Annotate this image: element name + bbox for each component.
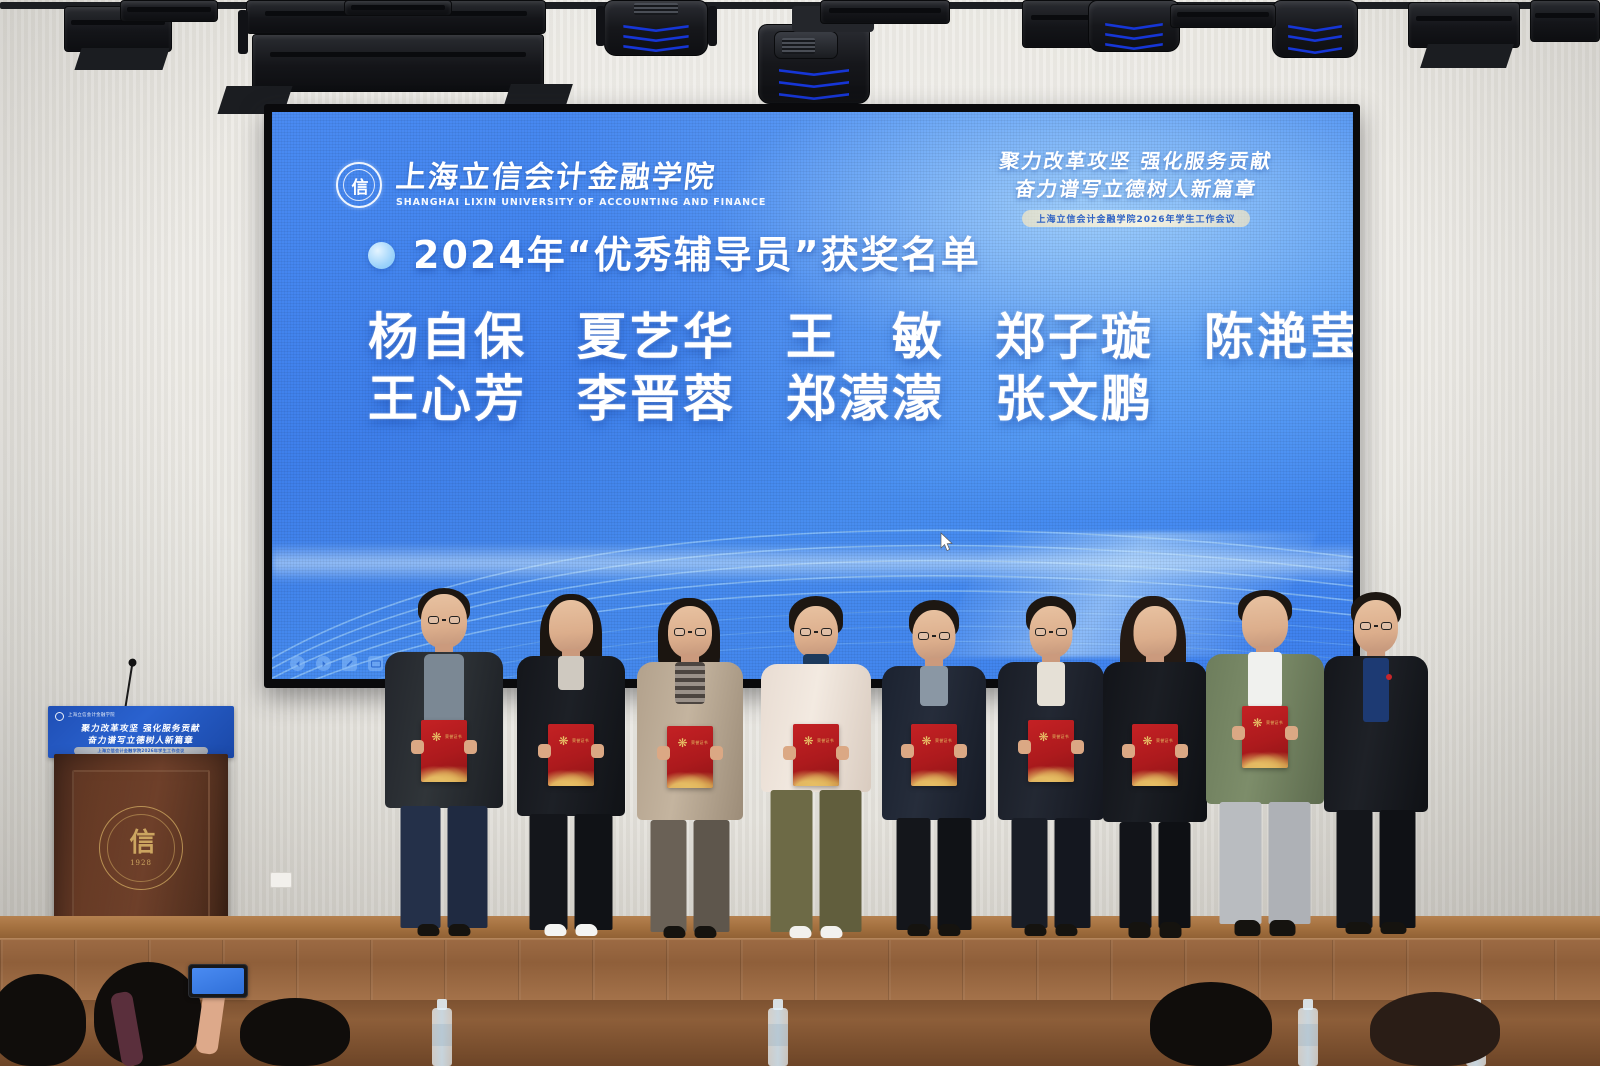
hands — [1018, 740, 1084, 754]
light-vent — [634, 3, 679, 15]
stage-light-fresnel — [820, 0, 950, 24]
hands — [657, 746, 723, 760]
glasses-icon — [800, 628, 832, 636]
glasses-icon — [428, 616, 460, 624]
university-name-en: SHANGHAI LIXIN UNIVERSITY OF ACCOUNTING … — [396, 197, 766, 208]
audience-member-photographer — [80, 958, 260, 1066]
certificate-gold-pattern — [667, 768, 713, 788]
legs — [651, 820, 730, 932]
legs — [401, 806, 488, 928]
water-bottle — [1298, 1008, 1318, 1066]
light-accent-chevron — [1288, 47, 1342, 54]
head — [549, 600, 593, 653]
person-award-recipient: ❋ 荣誉证书 — [994, 596, 1108, 948]
award-name: 郑子璇 — [995, 308, 1154, 366]
water-bottle — [768, 1008, 788, 1066]
slogan-line-2: 奋力谱写立德树人新篇章 — [969, 176, 1303, 204]
legs — [530, 814, 613, 930]
shoes — [1346, 922, 1407, 934]
light-accent-chevron — [1105, 43, 1163, 50]
certificate-gold-pattern — [793, 766, 839, 786]
hands — [1122, 744, 1188, 758]
bullet-dot-icon — [368, 242, 395, 269]
lighting-truss — [0, 0, 1600, 108]
audience-head — [0, 974, 86, 1066]
podium-banner: 上海立信会计金融学院 聚力改革攻坚 强化服务贡献 奋力谱写立德树人新篇章 上海立… — [48, 706, 234, 758]
hands — [1232, 726, 1298, 740]
inner-shirt — [1037, 662, 1065, 706]
moving-head-light — [604, 0, 708, 56]
legs — [1120, 822, 1191, 928]
slide-title-row: 2024年“优秀辅导员”获奖名单 — [368, 236, 981, 274]
glasses-icon — [1360, 622, 1392, 630]
shoes — [790, 926, 843, 938]
light-yoke — [708, 6, 717, 46]
person-award-recipient: ❋ 荣誉证书 — [756, 596, 876, 948]
moving-head-light — [758, 24, 870, 104]
seal-character: 信 — [338, 164, 380, 206]
inner-shirt — [675, 662, 705, 704]
audience-member — [240, 996, 360, 1066]
light-yoke — [238, 10, 248, 54]
stage-light-fresnel — [252, 34, 544, 92]
hands — [538, 744, 604, 758]
light-accent-chevron — [1288, 25, 1342, 32]
person-award-recipient: ❋ 荣誉证书 — [632, 596, 748, 948]
water-bottle — [432, 1008, 452, 1066]
certificate-gold-pattern — [548, 766, 594, 786]
hands — [901, 744, 967, 758]
name-row: 王心芳 李晋蓉 郑濛濛 张文鹏 — [368, 370, 1293, 428]
hands — [783, 746, 849, 760]
phone-camera[interactable] — [188, 964, 248, 998]
light-accent-chevron — [779, 93, 849, 100]
person-award-recipient: ❋ 荣誉证书 — [878, 598, 990, 948]
university-logo: 信 上海立信会计金融学院 SHANGHAI LIXIN UNIVERSITY O… — [336, 162, 766, 208]
podium-university-name: 上海立信会计金融学院 — [68, 712, 115, 718]
audience-head — [240, 998, 350, 1066]
stage-light-fresnel — [120, 0, 218, 22]
pen-icon[interactable] — [342, 656, 357, 671]
moving-head-light — [1272, 0, 1358, 58]
certificate-gold-pattern — [1132, 766, 1178, 786]
moving-head-light — [1088, 0, 1180, 52]
university-seal-icon: 信 — [336, 162, 382, 208]
person-award-recipient: ❋ 荣誉证书 — [378, 588, 510, 948]
audience-member — [1370, 990, 1520, 1066]
award-name: 张文鹏 — [995, 370, 1154, 428]
shoes — [1025, 924, 1078, 936]
light-accent-chevron — [1105, 33, 1163, 40]
slide-title: 2024年“优秀辅导员”获奖名单 — [413, 236, 981, 274]
award-name: 夏艺华 — [577, 308, 736, 366]
stage-light-fresnel — [1530, 0, 1600, 42]
podium-emblem-year: 1928 — [130, 859, 152, 867]
inner-shirt — [1363, 658, 1389, 722]
stage-light-fresnel — [1170, 4, 1276, 28]
certificate-gold-pattern — [421, 762, 467, 782]
award-name: 王心芳 — [368, 370, 527, 428]
legs — [1337, 810, 1416, 928]
award-name-list: 杨自保 夏艺华 王 敏 郑子璇 陈滟莹 王心芳 李晋蓉 郑濛濛 张文鹏 — [368, 308, 1293, 428]
barn-door — [74, 48, 169, 70]
audience-head — [94, 962, 202, 1066]
mouse-pointer-icon — [940, 532, 953, 552]
light-yoke — [596, 6, 605, 46]
glasses-icon — [1035, 628, 1067, 636]
audience-head — [1150, 982, 1272, 1066]
slogan-conference-pill: 上海立信会计金融学院2026年学生工作会议 — [1022, 210, 1249, 227]
certificate-text: 荣誉证书 — [817, 738, 834, 744]
legs — [1220, 802, 1311, 924]
phone-screen — [192, 968, 244, 994]
slide-slogan: 聚力改革攻坚 强化服务贡献 奋力谱写立德树人新篇章 上海立信会计金融学院2026… — [971, 148, 1301, 227]
podium-slogan-line-1: 聚力改革攻坚 强化服务贡献 — [48, 722, 234, 734]
light-vent — [782, 38, 815, 54]
award-name: 杨自保 — [368, 308, 527, 366]
podium-emblem-char: 信 — [129, 830, 152, 856]
glasses-icon — [674, 628, 706, 636]
hands — [411, 740, 477, 754]
glasses-icon — [918, 632, 950, 640]
inner-shirt — [920, 666, 948, 706]
award-name: 王 敏 — [786, 308, 945, 366]
certificate-gold-pattern — [1028, 762, 1074, 782]
certificate-gold-pattern — [1242, 748, 1288, 768]
shoes — [545, 924, 598, 936]
light-accent-chevron — [623, 25, 688, 32]
light-accent-chevron — [779, 69, 849, 76]
light-accent-chevron — [779, 81, 849, 88]
shoes — [1129, 922, 1182, 938]
award-name: 李晋蓉 — [577, 370, 736, 428]
legs — [771, 790, 862, 932]
head — [1134, 606, 1177, 658]
podium-slogan-line-2: 奋力谱写立德树人新篇章 — [48, 734, 234, 746]
shoes — [908, 924, 961, 936]
light-head — [774, 31, 838, 59]
shoes — [1235, 920, 1296, 936]
university-name-cn: 上海立信会计金融学院 — [394, 163, 767, 193]
barn-door — [1420, 44, 1514, 68]
head — [1242, 596, 1288, 650]
person-award-recipient: ❋ 荣誉证书 — [1096, 596, 1214, 948]
shoes — [418, 924, 471, 936]
podium-seal-icon — [55, 712, 64, 721]
podium-emblem-icon: 信 1928 — [99, 806, 183, 890]
person-award-recipient: ❋ 荣誉证书 — [1200, 590, 1330, 948]
legs — [1012, 818, 1091, 928]
name-row: 杨自保 夏艺华 王 敏 郑子璇 陈滟莹 — [368, 308, 1293, 366]
light-accent-chevron — [1105, 23, 1163, 30]
shoes — [664, 926, 717, 938]
stage-scene: 信 上海立信会计金融学院 SHANGHAI LIXIN UNIVERSITY O… — [0, 0, 1600, 1066]
light-accent-chevron — [1288, 35, 1342, 42]
wall-outlet — [270, 872, 292, 888]
light-accent-chevron — [623, 45, 688, 52]
certificate-gold-pattern — [911, 766, 957, 786]
lapel-pin-icon — [1386, 674, 1392, 680]
light-accent-chevron — [623, 35, 688, 42]
person-presenter — [1320, 592, 1432, 948]
inner-shirt — [1248, 652, 1282, 708]
stage-light-fresnel — [1408, 2, 1520, 48]
stage-light-fresnel — [344, 0, 452, 16]
prev-slide-icon[interactable] — [290, 656, 305, 671]
audience-head — [1370, 992, 1500, 1066]
audience-member — [1150, 980, 1290, 1066]
next-slide-icon[interactable] — [316, 656, 331, 671]
slogan-line-1: 聚力改革攻坚 强化服务贡献 — [969, 148, 1303, 176]
inner-shirt — [558, 656, 584, 690]
person-award-recipient: ❋ 荣誉证书 — [512, 592, 630, 948]
award-name: 郑濛濛 — [786, 370, 945, 428]
award-name: 陈滟莹 — [1204, 308, 1353, 366]
legs — [897, 818, 972, 930]
